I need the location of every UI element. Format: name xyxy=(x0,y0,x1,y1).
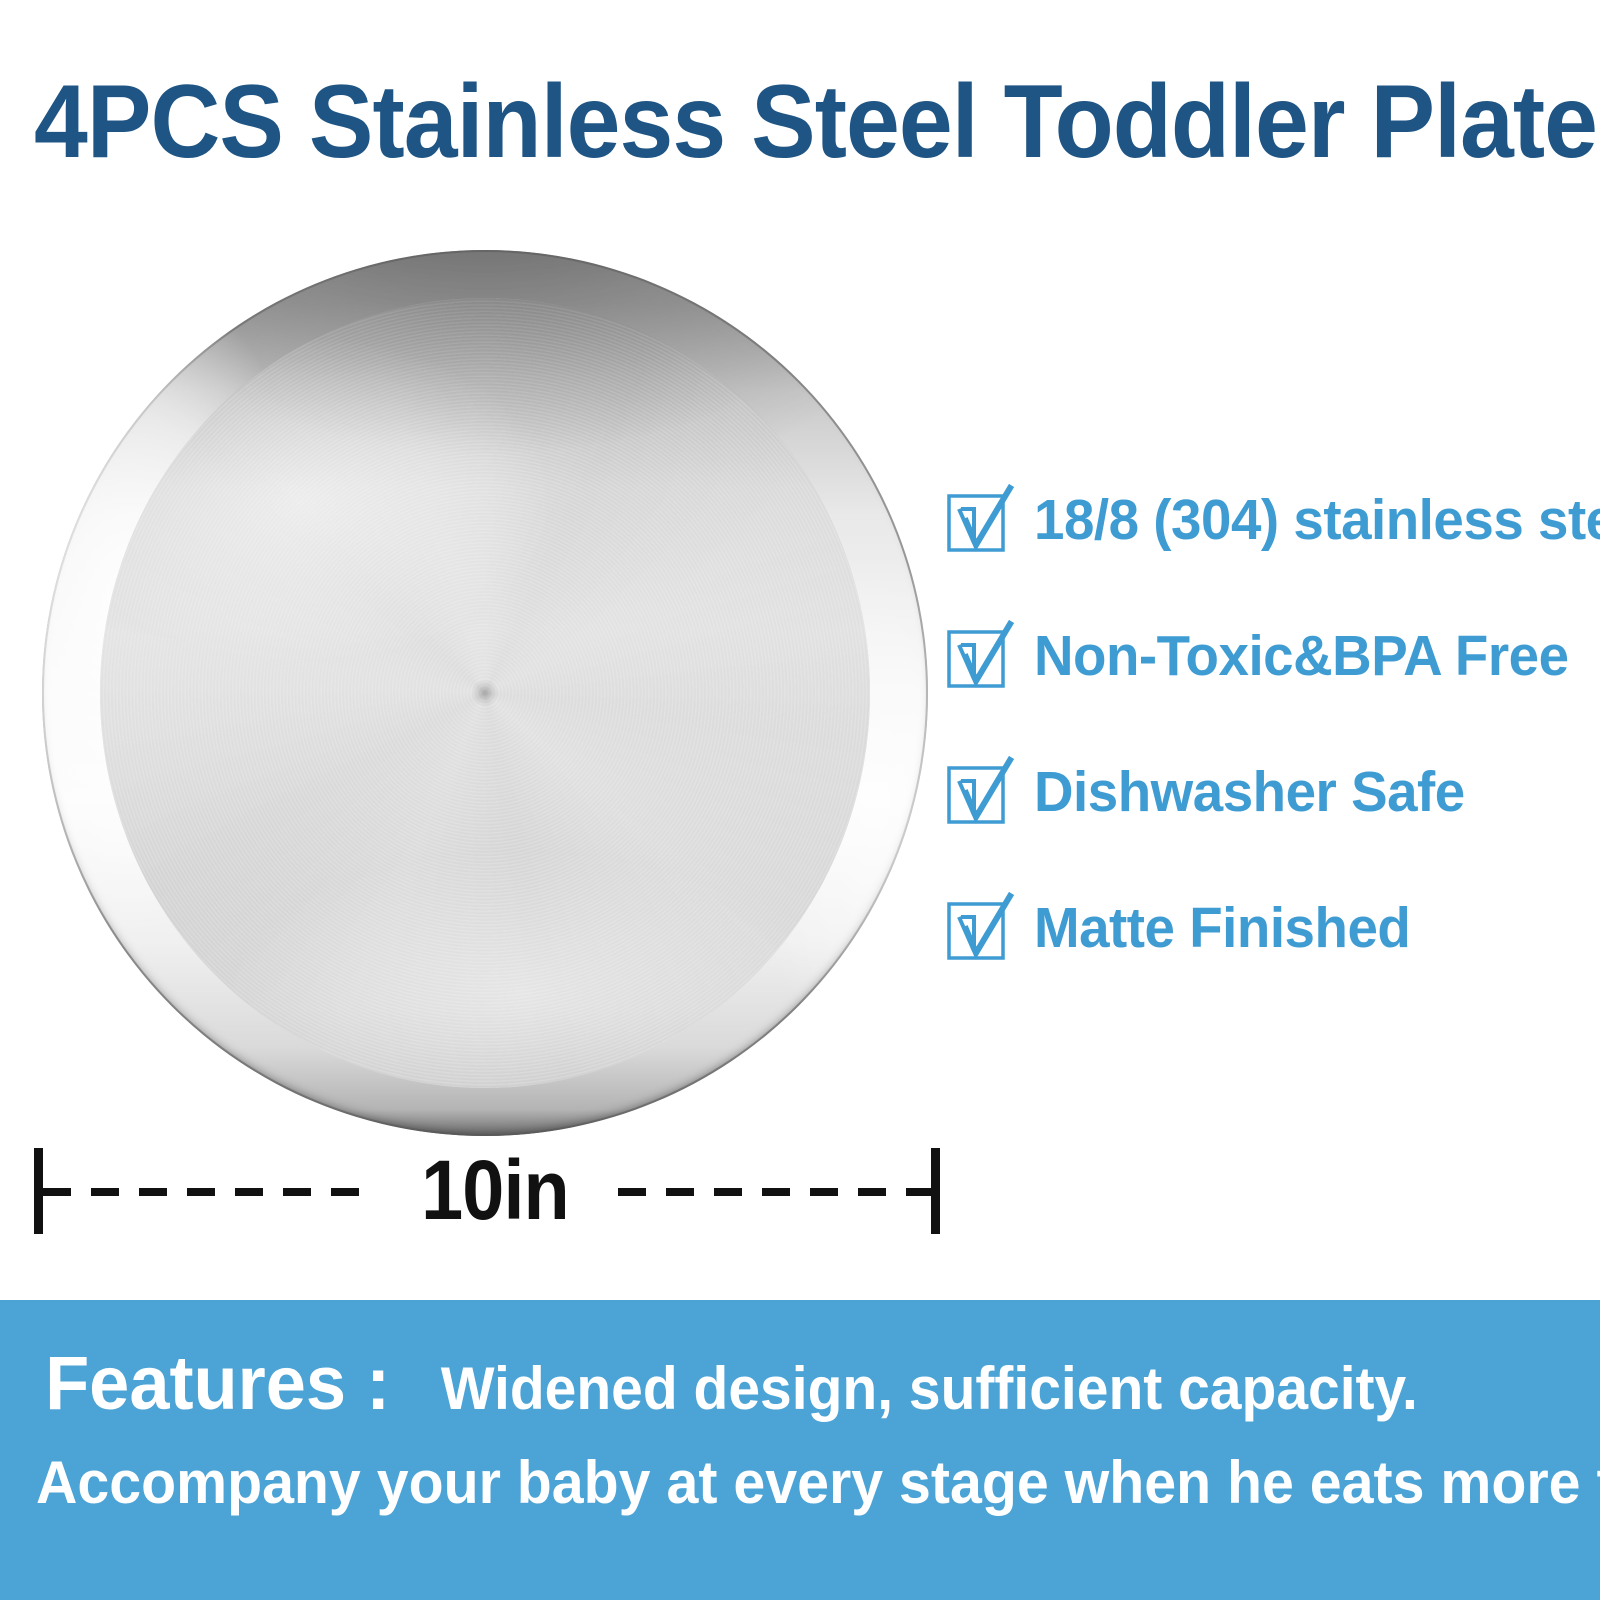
banner-text-line-2: Accompany your baby at every stage when … xyxy=(36,1448,1600,1518)
checkbox-checked-icon xyxy=(946,759,1012,825)
checkbox-checked-icon xyxy=(946,895,1012,961)
plate-well xyxy=(100,298,869,1088)
product-image-plate xyxy=(42,250,928,1136)
feature-item-dishwasher-safe: Dishwasher Safe xyxy=(946,724,1596,860)
plate-center-point xyxy=(472,680,498,706)
feature-list: 18/8 (304) stainless steel Non-Toxic&BPA… xyxy=(946,452,1596,996)
page-title: 4PCS Stainless Steel Toddler Plate xyxy=(34,62,1466,182)
dimension-label: 10in xyxy=(401,1140,590,1240)
dimension-dash-right xyxy=(618,1188,931,1196)
feature-item-non-toxic-bpa-free: Non-Toxic&BPA Free xyxy=(946,588,1596,724)
feature-item-matte-finished: Matte Finished xyxy=(946,860,1596,996)
banner-first-line: Features : Widened design, sufficient ca… xyxy=(36,1342,1444,1426)
feature-label: Non-Toxic&BPA Free xyxy=(1034,625,1569,687)
checkbox-checked-icon xyxy=(946,623,1012,689)
banner-heading: Features : xyxy=(45,1342,390,1426)
dimension-callout: 10in xyxy=(34,1148,940,1234)
dimension-end-cap-left xyxy=(34,1148,43,1234)
dimension-end-cap-right xyxy=(931,1148,940,1234)
feature-label: Matte Finished xyxy=(1034,897,1410,959)
banner-text-line-1: Widened design, sufficient capacity. xyxy=(441,1354,1418,1424)
feature-label: Dishwasher Safe xyxy=(1034,761,1465,823)
features-banner: Features : Widened design, sufficient ca… xyxy=(0,1300,1600,1600)
feature-item-stainless-steel: 18/8 (304) stainless steel xyxy=(946,452,1596,588)
checkbox-checked-icon xyxy=(946,487,1012,553)
feature-label: 18/8 (304) stainless steel xyxy=(1034,489,1600,551)
dimension-dash-left xyxy=(43,1188,375,1196)
